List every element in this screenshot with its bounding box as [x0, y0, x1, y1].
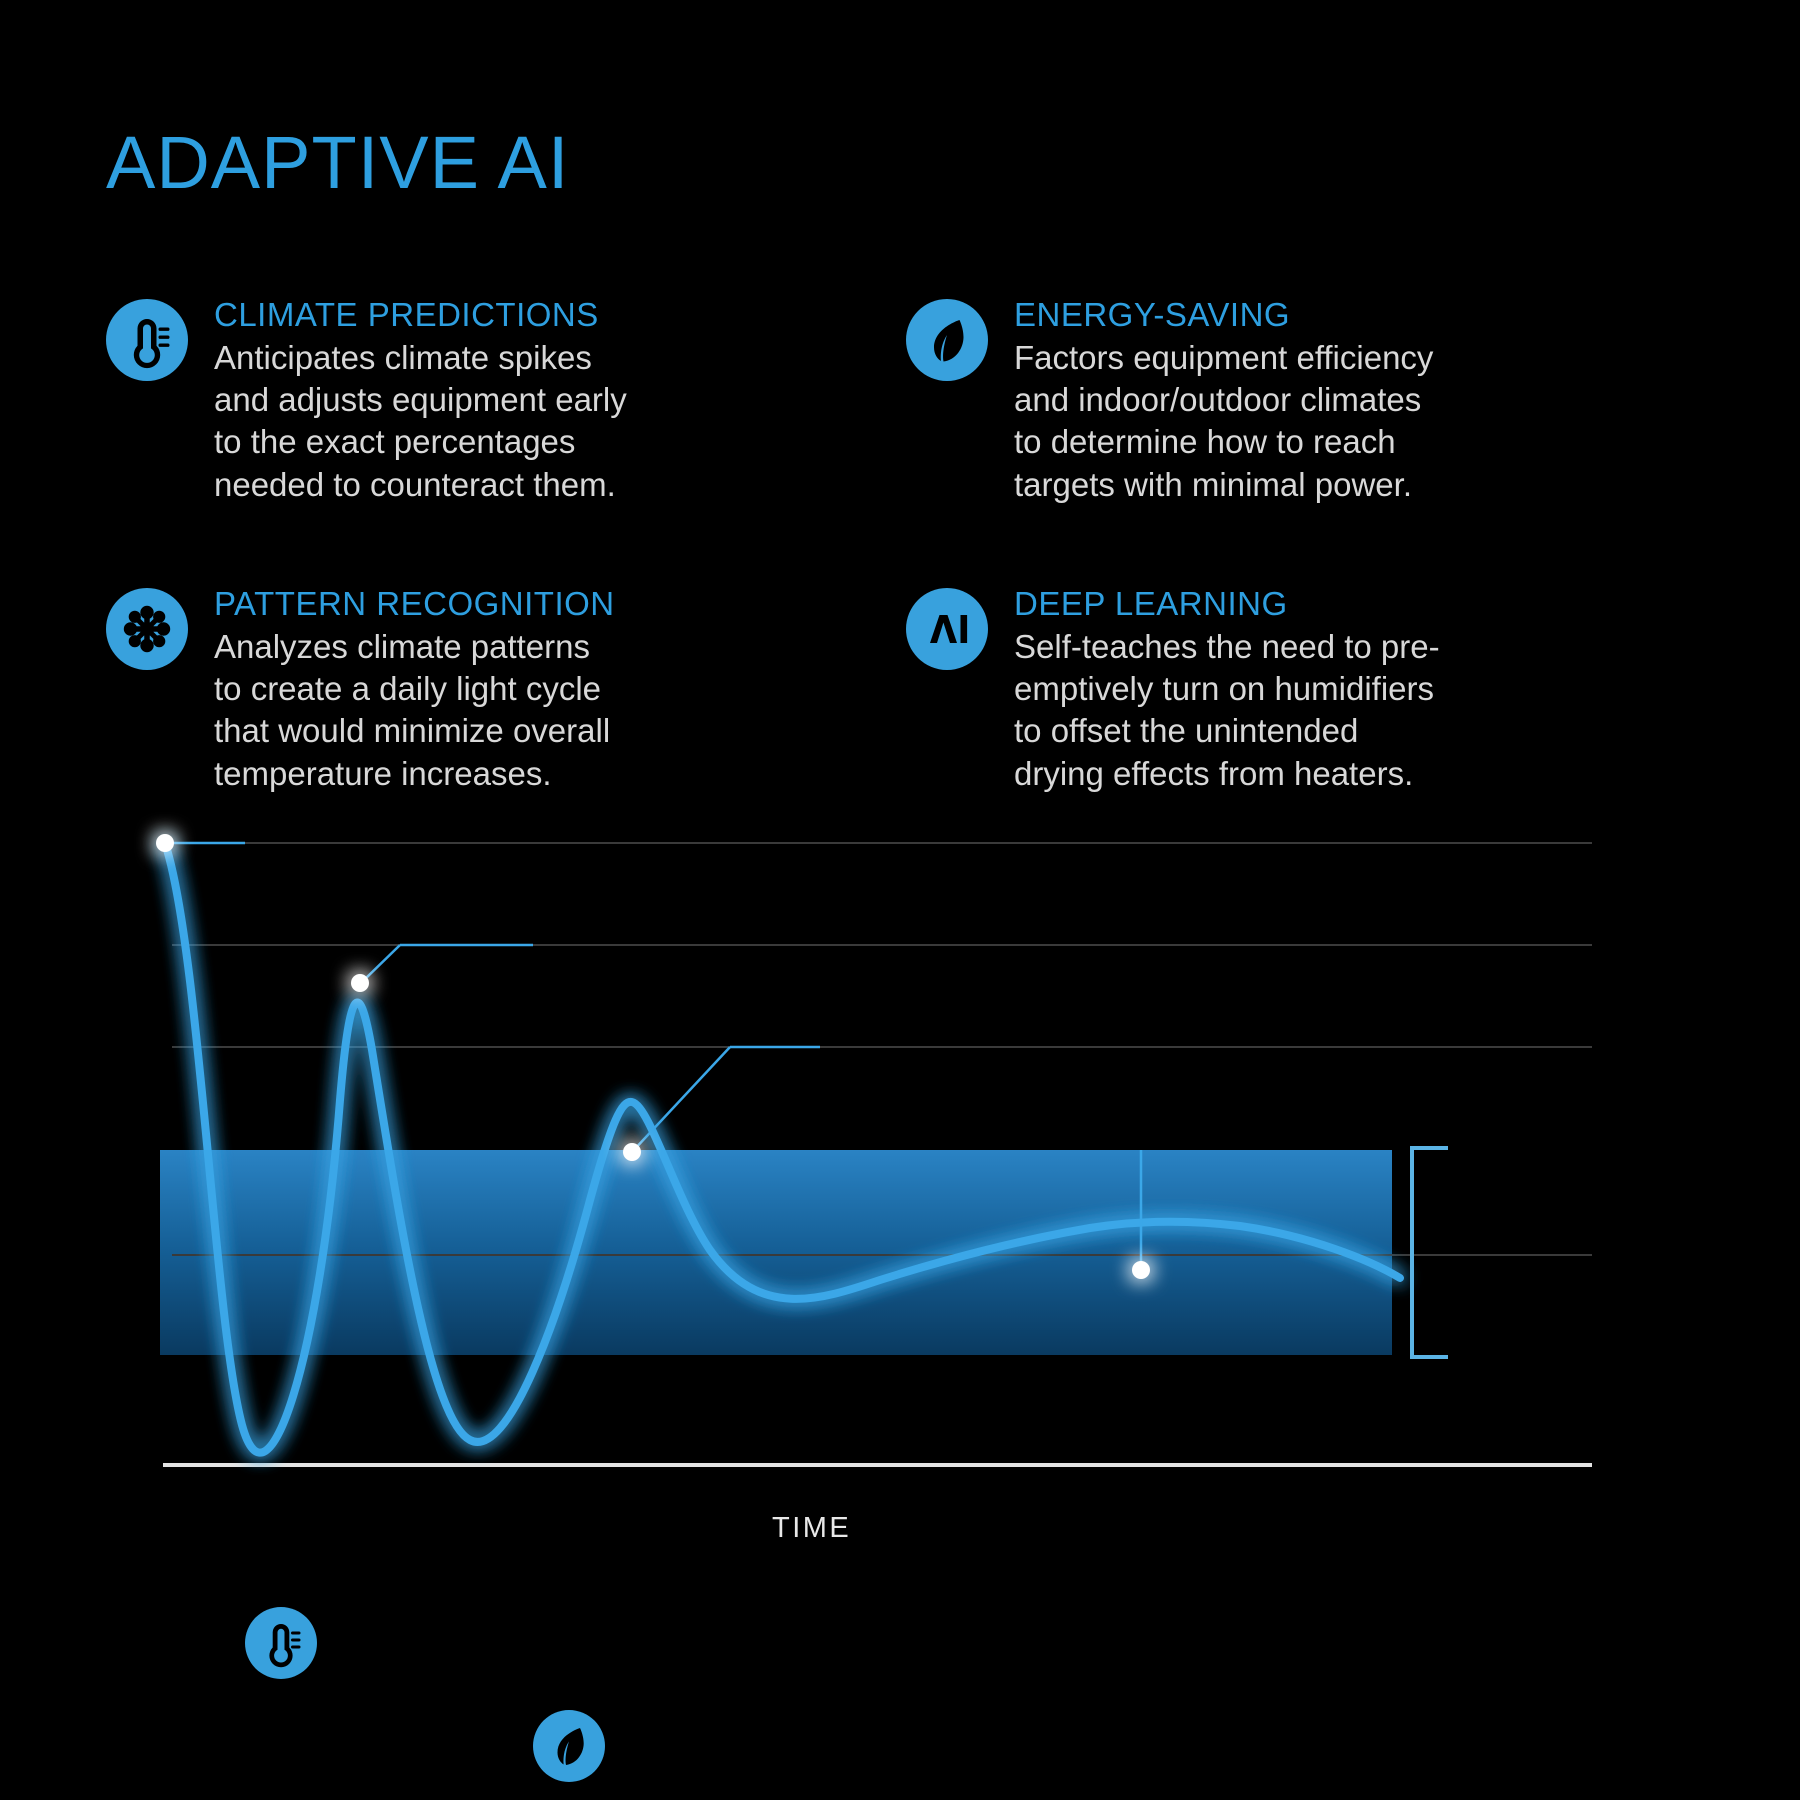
feature-heading: PATTERN RECOGNITION: [214, 586, 615, 623]
feature-row-2: PATTERN RECOGNITION Analyzes climate pat…: [106, 584, 1706, 795]
chart-marker-thermometer: [245, 1607, 317, 1679]
climate-curve: [165, 843, 1400, 1453]
feature-text: DEEP LEARNING Self-teaches the need to p…: [1014, 584, 1440, 795]
feature-text: PATTERN RECOGNITION Analyzes climate pat…: [214, 584, 615, 795]
feature-energy-saving: ENERGY-SAVING Factors equipment efficien…: [906, 295, 1706, 506]
feature-pattern-recognition: PATTERN RECOGNITION Analyzes climate pat…: [106, 584, 906, 795]
ideal-bracket: [1412, 1148, 1448, 1357]
feature-body: Factors equipment efficiency and indoor/…: [1014, 337, 1433, 506]
ai-logo-icon: [906, 588, 988, 670]
feature-text: CLIMATE PREDICTIONS Anticipates climate …: [214, 295, 627, 506]
feature-heading: CLIMATE PREDICTIONS: [214, 297, 627, 334]
feature-deep-learning: DEEP LEARNING Self-teaches the need to p…: [906, 584, 1706, 795]
feature-body: Self-teaches the need to pre- emptively …: [1014, 626, 1440, 795]
infographic-root: ADAPTIVE AI CLIMATE PREDICTIONS Anticipa…: [0, 0, 1800, 1800]
data-point: [156, 834, 174, 852]
data-point: [623, 1143, 641, 1161]
page-title: ADAPTIVE AI: [106, 126, 569, 200]
row-spacer: [106, 506, 1706, 584]
feature-climate-predictions: CLIMATE PREDICTIONS Anticipates climate …: [106, 295, 906, 506]
feature-grid: CLIMATE PREDICTIONS Anticipates climate …: [106, 295, 1706, 795]
feature-body: Anticipates climate spikes and adjusts e…: [214, 337, 627, 506]
network-nodes-icon: [106, 588, 188, 670]
feature-heading: ENERGY-SAVING: [1014, 297, 1433, 334]
feature-heading: DEEP LEARNING: [1014, 586, 1440, 623]
thermometer-icon: [106, 299, 188, 381]
x-axis-label: TIME: [772, 1512, 851, 1545]
leaf-icon: [906, 299, 988, 381]
chart-marker-leaf: [533, 1710, 605, 1782]
climate-chart: CLIMATE TIME IDEAL: [0, 800, 1800, 1800]
feature-row-1: CLIMATE PREDICTIONS Anticipates climate …: [106, 295, 1706, 506]
feature-text: ENERGY-SAVING Factors equipment efficien…: [1014, 295, 1433, 506]
ideal-band: [160, 1150, 1392, 1355]
feature-body: Analyzes climate patterns to create a da…: [214, 626, 615, 795]
data-point: [1132, 1261, 1150, 1279]
data-point: [351, 974, 369, 992]
